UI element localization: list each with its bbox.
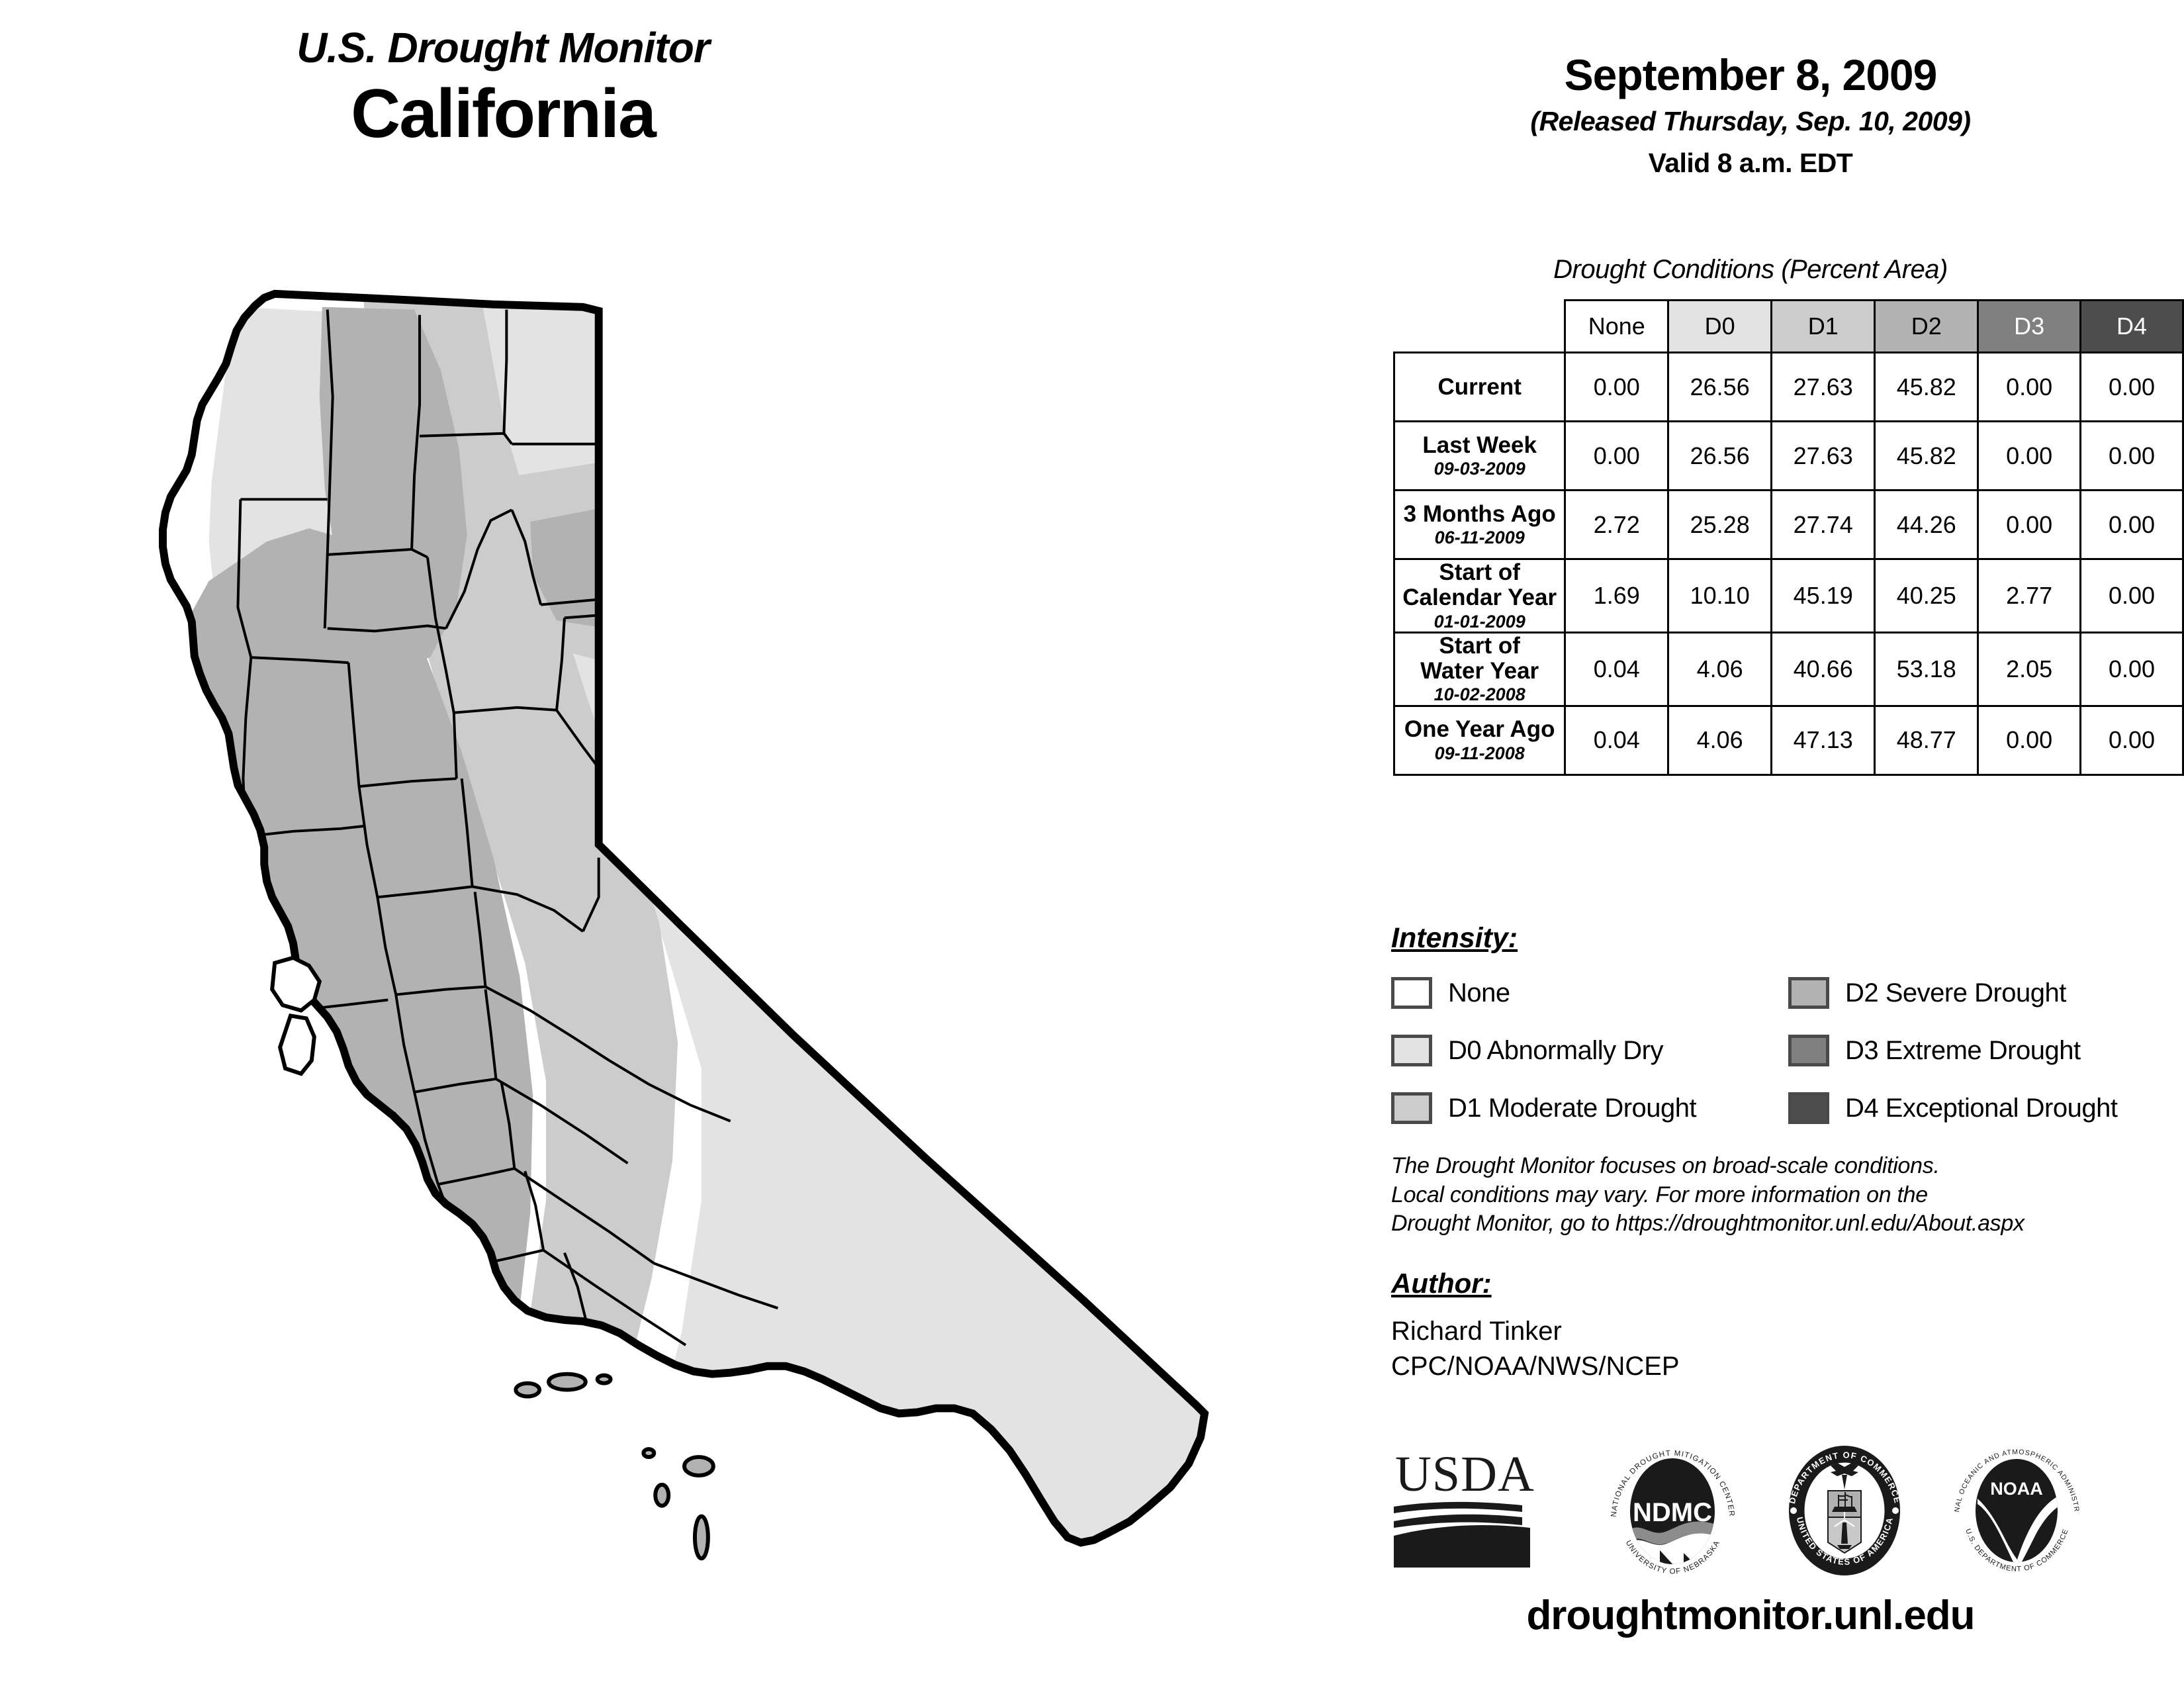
legend-label: None: [1448, 978, 1510, 1008]
cell-d2: 45.82: [1875, 422, 1978, 491]
row-label-text-line2: Water Year: [1395, 659, 1564, 684]
date-block: September 8, 2009 (Released Thursday, Se…: [1317, 53, 2184, 179]
cell-d1: 40.66: [1772, 632, 1875, 706]
row-label-start-of-water-year: Start of Water Year 10-02-2008: [1394, 632, 1565, 706]
author-name: Richard Tinker: [1391, 1314, 1680, 1349]
cell-d2: 40.25: [1875, 559, 1978, 633]
table-row: 3 Months Ago 06-11-2009 2.72 25.28 27.74…: [1394, 491, 2183, 559]
cell-d4: 0.00: [2081, 353, 2183, 422]
table-row: Current 0.00 26.56 27.63 45.82 0.00 0.00: [1394, 353, 2183, 422]
table-row: One Year Ago 09-11-2008 0.04 4.06 47.13 …: [1394, 706, 2183, 774]
cell-none: 0.00: [1565, 353, 1668, 422]
table-header-row: None D0 D1 D2 D3 D4: [1394, 301, 2183, 353]
row-label-text-line2: Calendar Year: [1395, 585, 1564, 610]
cell-d4: 0.00: [2081, 706, 2183, 774]
author-block: Richard Tinker CPC/NOAA/NWS/NCEP: [1391, 1314, 1680, 1384]
table-row: Start of Water Year 10-02-2008 0.04 4.06…: [1394, 632, 2183, 706]
ndmc-logo: NDMC NATIONAL DROUGHT MITIGATION CENTER …: [1602, 1443, 1744, 1579]
map-svg[interactable]: [79, 278, 1297, 1595]
california-drought-map[interactable]: [79, 278, 1297, 1595]
legend-label: D4 Exceptional Drought: [1845, 1094, 2117, 1123]
legend-item-d0: D0 Abnormally Dry: [1391, 1025, 1696, 1076]
svg-text:USDA: USDA: [1395, 1446, 1535, 1502]
row-label-text: 3 Months Ago: [1395, 502, 1564, 527]
disclaimer-line-2: Local conditions may vary. For more info…: [1391, 1181, 2179, 1210]
row-label-text: One Year Ago: [1395, 717, 1564, 742]
info-panel: September 8, 2009 (Released Thursday, Se…: [1317, 0, 2184, 1688]
map-panel: U.S. Drought Monitor California: [0, 0, 1317, 1688]
row-label-current: Current: [1394, 353, 1565, 422]
cell-none: 0.04: [1565, 632, 1668, 706]
cell-none: 0.04: [1565, 706, 1668, 774]
cell-d0: 4.06: [1668, 632, 1772, 706]
row-label-one-year-ago: One Year Ago 09-11-2008: [1394, 706, 1565, 774]
disclaimer-text: The Drought Monitor focuses on broad-sca…: [1391, 1152, 2179, 1239]
cell-d3: 0.00: [1978, 706, 2081, 774]
cell-d4: 0.00: [2081, 491, 2183, 559]
legend-column-left: None D0 Abnormally Dry D1 Moderate Droug…: [1391, 968, 1696, 1141]
legend-item-none: None: [1391, 968, 1696, 1018]
swatch-d4-icon: [1788, 1092, 1829, 1124]
cell-d2: 45.82: [1875, 353, 1978, 422]
author-heading: Author:: [1391, 1268, 1492, 1299]
cell-d2: 48.77: [1875, 706, 1978, 774]
site-url[interactable]: droughtmonitor.unl.edu: [1317, 1592, 2184, 1639]
state-name-title: California: [0, 78, 1006, 150]
cell-d1: 45.19: [1772, 559, 1875, 633]
san-francisco-bay: [272, 958, 320, 1074]
channel-islands: [516, 1374, 713, 1559]
release-date: (Released Thursday, Sep. 10, 2009): [1317, 106, 2184, 137]
row-label-start-of-calendar-year: Start of Calendar Year 01-01-2009: [1394, 559, 1565, 633]
row-label-date: 06-11-2009: [1395, 528, 1564, 547]
valid-time: Valid 8 a.m. EDT: [1317, 148, 2184, 179]
col-header-d4: D4: [2081, 301, 2183, 353]
doc-seal: DEPARTMENT OF COMMERCE UNITED STATES OF …: [1774, 1443, 1916, 1579]
legend-item-d1: D1 Moderate Drought: [1391, 1083, 1696, 1133]
legend-label: D0 Abnormally Dry: [1448, 1036, 1663, 1066]
cell-d0: 25.28: [1668, 491, 1772, 559]
col-header-none: None: [1565, 301, 1668, 353]
cell-d0: 26.56: [1668, 422, 1772, 491]
disclaimer-line-3: Drought Monitor, go to https://droughtmo…: [1391, 1209, 2179, 1239]
col-header-d1: D1: [1772, 301, 1875, 353]
cell-d1: 27.74: [1772, 491, 1875, 559]
legend-column-right: D2 Severe Drought D3 Extreme Drought D4 …: [1788, 968, 2117, 1141]
cell-d3: 0.00: [1978, 353, 2081, 422]
col-header-d2: D2: [1875, 301, 1978, 353]
legend-item-d4: D4 Exceptional Drought: [1788, 1083, 2117, 1133]
svg-text:NOAA: NOAA: [1990, 1479, 2043, 1499]
cell-d0: 26.56: [1668, 353, 1772, 422]
row-label-date: 01-01-2009: [1395, 612, 1564, 632]
col-header-d3: D3: [1978, 301, 2081, 353]
swatch-d2-icon: [1788, 977, 1829, 1009]
table-row: Start of Calendar Year 01-01-2009 1.69 1…: [1394, 559, 2183, 633]
row-label-text-line1: Start of: [1395, 633, 1564, 659]
svg-text:NDMC: NDMC: [1633, 1498, 1712, 1527]
cell-d0: 4.06: [1668, 706, 1772, 774]
swatch-d0-icon: [1391, 1035, 1432, 1066]
cell-d2: 53.18: [1875, 632, 1978, 706]
drought-conditions-table: None D0 D1 D2 D3 D4 Current 0.00 26.56 2…: [1393, 299, 2184, 776]
cell-d3: 0.00: [1978, 491, 2081, 559]
row-label-text: Last Week: [1395, 433, 1564, 458]
table-corner-cell: [1394, 301, 1565, 353]
author-affiliation: CPC/NOAA/NWS/NCEP: [1391, 1349, 1680, 1384]
cell-d3: 2.05: [1978, 632, 2081, 706]
disclaimer-line-1: The Drought Monitor focuses on broad-sca…: [1391, 1152, 2179, 1181]
legend-label: D3 Extreme Drought: [1845, 1036, 2081, 1066]
usda-logo: USDA: [1390, 1443, 1555, 1575]
cell-none: 2.72: [1565, 491, 1668, 559]
cell-d1: 27.63: [1772, 422, 1875, 491]
intensity-heading: Intensity:: [1391, 922, 1518, 955]
table-row: Last Week 09-03-2009 0.00 26.56 27.63 45…: [1394, 422, 2183, 491]
table-caption: Drought Conditions (Percent Area): [1317, 255, 2184, 285]
cell-d3: 2.77: [1978, 559, 2081, 633]
title-block: U.S. Drought Monitor California: [0, 26, 1006, 150]
cell-none: 0.00: [1565, 422, 1668, 491]
legend-label: D1 Moderate Drought: [1448, 1094, 1696, 1123]
col-header-d0: D0: [1668, 301, 1772, 353]
cell-none: 1.69: [1565, 559, 1668, 633]
drought-monitor-title: U.S. Drought Monitor: [0, 26, 1006, 69]
cell-d4: 0.00: [2081, 422, 2183, 491]
cell-d4: 0.00: [2081, 632, 2183, 706]
row-label-date: 09-03-2009: [1395, 459, 1564, 479]
agency-logos: USDA NDMC: [1390, 1443, 2177, 1582]
legend-label: D2 Severe Drought: [1845, 978, 2066, 1008]
swatch-d1-icon: [1391, 1092, 1432, 1124]
issue-date: September 8, 2009: [1317, 53, 2184, 97]
row-label-3-months-ago: 3 Months Ago 06-11-2009: [1394, 491, 1565, 559]
cell-d2: 44.26: [1875, 491, 1978, 559]
row-label-text: Current: [1395, 375, 1564, 400]
noaa-logo: NOAA NATIONAL OCEANIC AND ATMOSPHERIC AD…: [1946, 1443, 2088, 1579]
cell-d1: 27.63: [1772, 353, 1875, 422]
cell-d0: 10.10: [1668, 559, 1772, 633]
legend-item-d2: D2 Severe Drought: [1788, 968, 2117, 1018]
row-label-date: 09-11-2008: [1395, 744, 1564, 763]
cell-d3: 0.00: [1978, 422, 2081, 491]
cell-d1: 47.13: [1772, 706, 1875, 774]
swatch-none-icon: [1391, 977, 1432, 1009]
row-label-text-line1: Start of: [1395, 560, 1564, 585]
row-label-last-week: Last Week 09-03-2009: [1394, 422, 1565, 491]
cell-d4: 0.00: [2081, 559, 2183, 633]
swatch-d3-icon: [1788, 1035, 1829, 1066]
legend-item-d3: D3 Extreme Drought: [1788, 1025, 2117, 1076]
row-label-date: 10-02-2008: [1395, 685, 1564, 704]
